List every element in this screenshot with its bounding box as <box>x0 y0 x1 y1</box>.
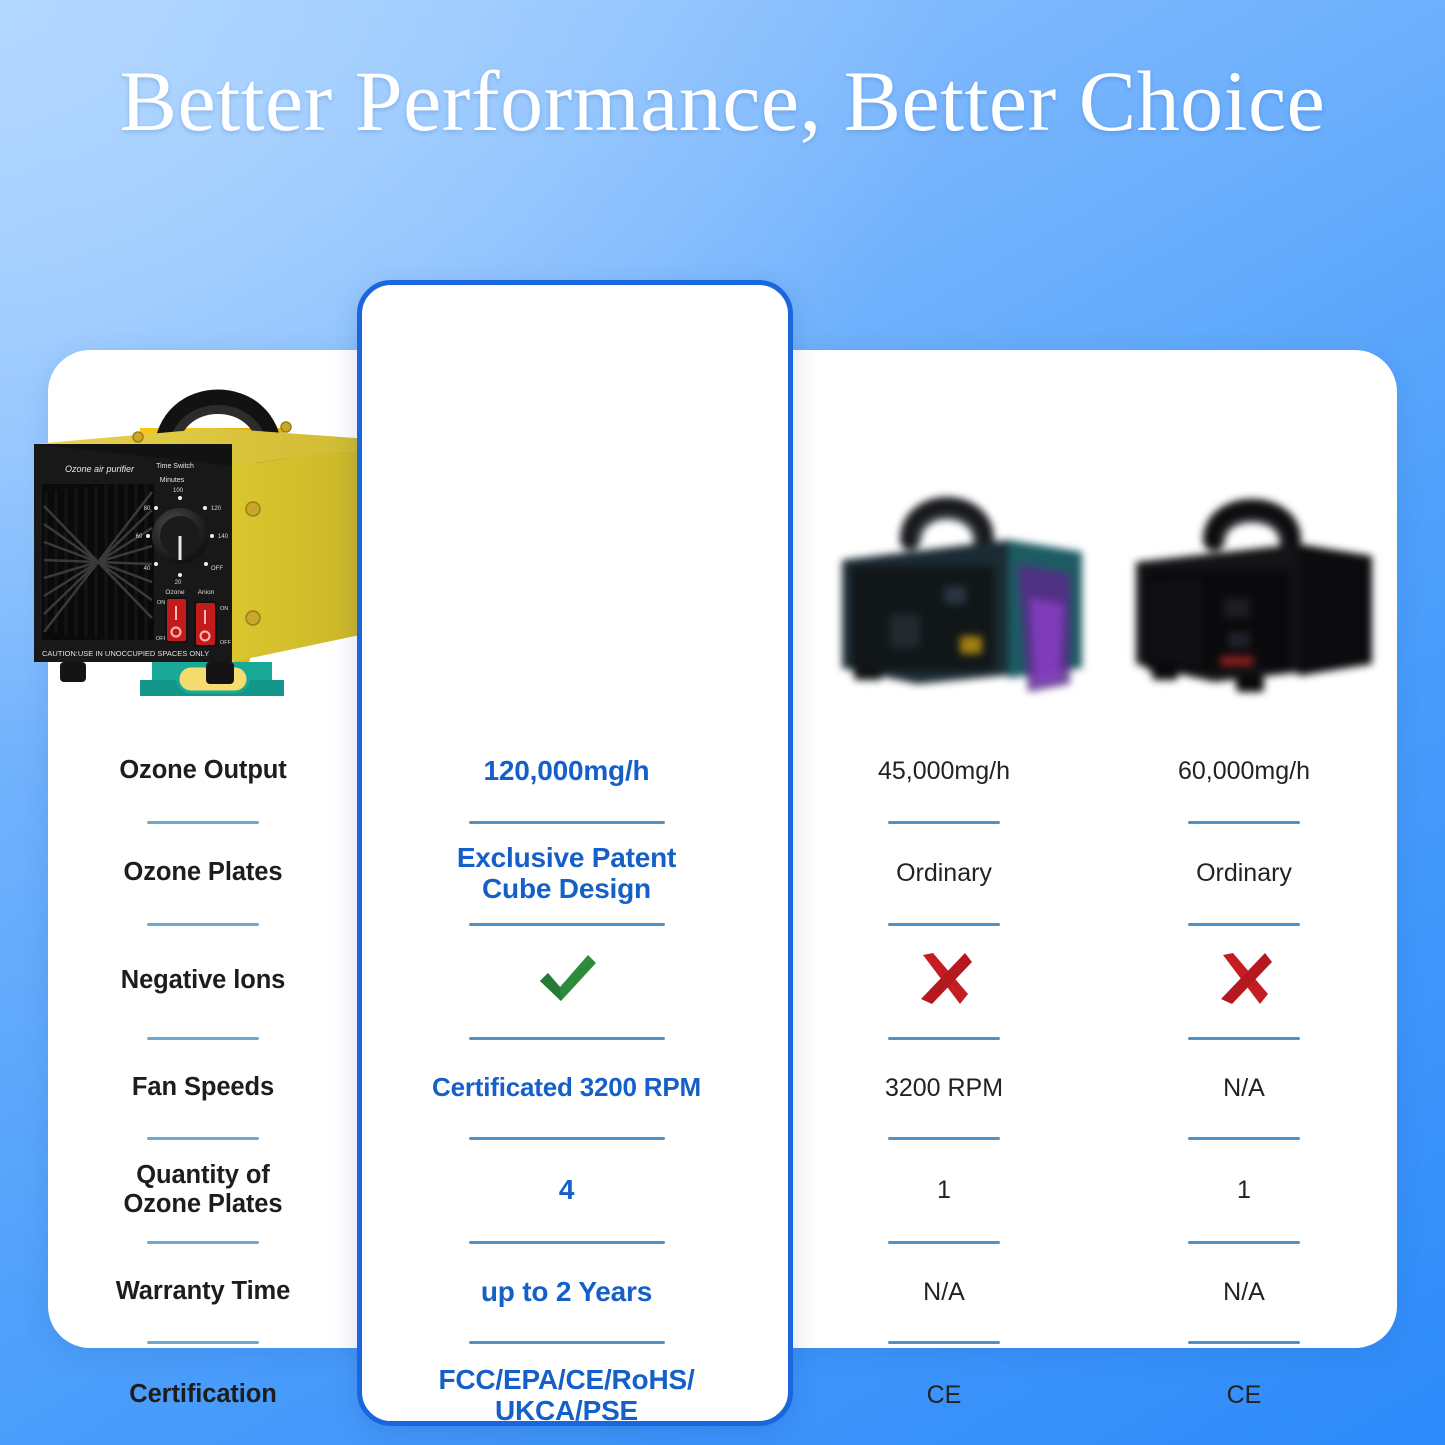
competitor-1-value: CE <box>794 1381 1094 1410</box>
row-divider <box>48 1025 1397 1051</box>
competitor-2-text: 1 <box>1237 1176 1251 1205</box>
featured-value-text: up to 2 Years <box>481 1276 652 1307</box>
row-divider <box>48 809 1397 835</box>
competitor-1-image <box>832 478 1100 708</box>
featured-value <box>361 951 772 1012</box>
svg-text:60: 60 <box>136 534 143 540</box>
row-divider <box>48 1229 1397 1255</box>
competitor-1-value: Ordinary <box>794 859 1094 888</box>
svg-text:Anion: Anion <box>198 589 215 596</box>
svg-text:ON: ON <box>220 606 228 612</box>
page-title: Better Performance, Better Choice <box>0 58 1445 144</box>
svg-text:140: 140 <box>218 534 229 540</box>
table-row: Warranty Time up to 2 Years N/A N/A <box>48 1255 1397 1355</box>
competitor-1-value: 3200 RPM <box>794 1074 1094 1103</box>
infographic-root: Better Performance, Better Choice <box>0 0 1445 1445</box>
featured-value: Certificated 3200 RPM <box>361 1073 772 1102</box>
featured-value: 120,000mg/h <box>361 755 772 786</box>
competitor-1-value: 45,000mg/h <box>794 757 1094 786</box>
competitor-1-value: 1 <box>794 1176 1094 1205</box>
row-label: Warranty Time <box>48 1277 358 1306</box>
table-row: Fan Speeds Certificated 3200 RPM 3200 RP… <box>48 1051 1397 1151</box>
row-label: Certification <box>48 1380 358 1409</box>
featured-value: FCC/EPA/CE/RoHS/ UKCA/PSE <box>361 1364 772 1427</box>
competitor-2-text: CE <box>1227 1381 1262 1410</box>
featured-value-text: Certificated 3200 RPM <box>432 1073 701 1102</box>
row-label-text: Negative lons <box>121 966 286 995</box>
competitor-1-text: 1 <box>937 1176 951 1205</box>
table-row: Ozone Plates Exclusive Patent Cube Desig… <box>48 835 1397 937</box>
row-label: Quantity of Ozone Plates <box>48 1161 358 1219</box>
competitor-1-text: 3200 RPM <box>885 1074 1003 1103</box>
row-label-text: Ozone Output <box>119 756 286 785</box>
row-label-text: Quantity of Ozone Plates <box>124 1161 283 1219</box>
svg-text:120: 120 <box>211 506 222 512</box>
featured-value-text: FCC/EPA/CE/RoHS/ UKCA/PSE <box>438 1364 694 1427</box>
competitor-2-value: 1 <box>1094 1176 1394 1205</box>
svg-text:OFF: OFF <box>211 566 223 572</box>
competitor-2-image <box>1128 486 1380 700</box>
featured-value: Exclusive Patent Cube Design <box>361 842 772 905</box>
featured-value-text: Exclusive Patent Cube Design <box>457 842 676 905</box>
competitor-1-text: N/A <box>923 1278 965 1307</box>
competitor-2-value: N/A <box>1094 1278 1394 1307</box>
svg-text:20: 20 <box>175 580 182 586</box>
table-row: Ozone Output 120,000mg/h 45,000mg/h 60,0… <box>48 733 1397 835</box>
svg-text:Ozone air purifier: Ozone air purifier <box>65 464 135 474</box>
row-divider <box>48 1329 1397 1355</box>
row-label-text: Certification <box>129 1380 276 1409</box>
competitor-2-text: 60,000mg/h <box>1178 757 1310 786</box>
competitor-1-text: 45,000mg/h <box>878 757 1010 786</box>
competitor-2-value: 60,000mg/h <box>1094 757 1394 786</box>
competitor-2-text: N/A <box>1223 1278 1265 1307</box>
cross-icon <box>916 952 972 1011</box>
svg-text:100: 100 <box>173 488 184 494</box>
row-label: Ozone Plates <box>48 858 358 887</box>
check-icon <box>534 951 600 1012</box>
svg-text:80: 80 <box>144 506 151 512</box>
cross-icon <box>1216 952 1272 1011</box>
featured-value: 4 <box>361 1174 772 1205</box>
row-label: Negative lons <box>48 966 358 995</box>
competitor-1-text: Ordinary <box>896 859 992 888</box>
svg-text:OFF: OFF <box>220 640 232 646</box>
svg-text:40: 40 <box>144 566 151 572</box>
svg-text:CAUTION:USE IN UNOCCUPIED SPAC: CAUTION:USE IN UNOCCUPIED SPACES ONLY <box>42 649 209 658</box>
row-label-text: Fan Speeds <box>132 1073 274 1102</box>
svg-text:Time Switch: Time Switch <box>156 463 194 470</box>
row-label: Fan Speeds <box>48 1073 358 1102</box>
svg-text:ON: ON <box>157 600 165 606</box>
row-label-text: Ozone Plates <box>124 858 283 887</box>
competitor-2-value: N/A <box>1094 1074 1394 1103</box>
competitor-2-value <box>1094 952 1394 1011</box>
row-label-text: Warranty Time <box>116 1277 290 1306</box>
competitor-1-text: CE <box>927 1381 962 1410</box>
featured-value-text: 4 <box>559 1174 574 1205</box>
competitor-1-value: N/A <box>794 1278 1094 1307</box>
competitor-2-text: Ordinary <box>1196 859 1292 888</box>
competitor-1-value <box>794 952 1094 1011</box>
featured-value-text: 120,000mg/h <box>484 755 650 786</box>
featured-value: up to 2 Years <box>361 1276 772 1307</box>
table-row: Negative lons <box>48 937 1397 1051</box>
row-divider <box>48 1125 1397 1151</box>
competitor-2-text: N/A <box>1223 1074 1265 1103</box>
svg-text:Minutes: Minutes <box>160 477 185 484</box>
row-divider <box>48 911 1397 937</box>
svg-text:Ozone: Ozone <box>165 589 185 596</box>
comparison-table: Ozone Output 120,000mg/h 45,000mg/h 60,0… <box>48 733 1397 1435</box>
competitor-2-value: Ordinary <box>1094 859 1394 888</box>
row-label: Ozone Output <box>48 756 358 785</box>
competitor-2-value: CE <box>1094 1381 1394 1410</box>
table-row: Certification FCC/EPA/CE/RoHS/ UKCA/PSE … <box>48 1355 1397 1435</box>
table-row: Quantity of Ozone Plates 4 1 1 <box>48 1151 1397 1255</box>
